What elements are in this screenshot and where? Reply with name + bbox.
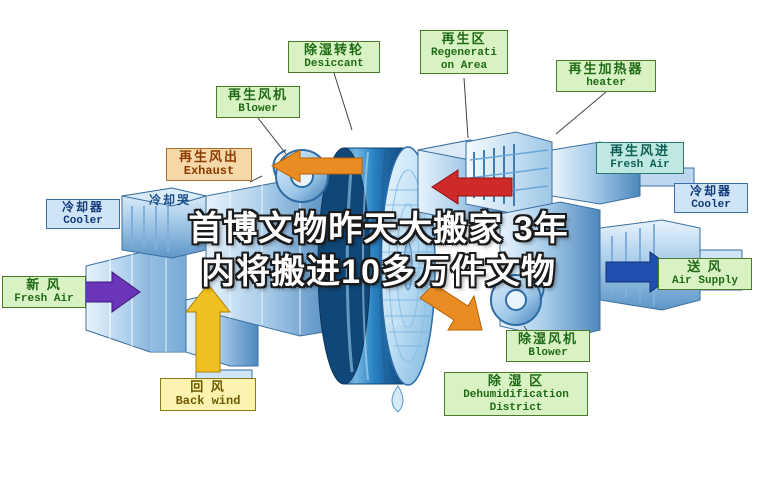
label-regeneration-blower: 再生风机 Blower [216, 86, 300, 118]
label-desiccant-rotor: 除湿转轮 Desiccant [288, 41, 380, 73]
label-air-supply: 送 风 Air Supply [658, 258, 752, 290]
label-cooler-left: 冷却器 Cooler [46, 199, 120, 229]
label-cooling-water: 冷却哭 [140, 193, 200, 209]
label-cooler-right: 冷却器 Cooler [674, 183, 748, 213]
label-fresh-air-inlet: 新 风 Fresh Air [2, 276, 86, 308]
diagram-canvas: 除湿转轮 Desiccant 再生区 Regenerati on Area 再生… [0, 0, 757, 488]
label-regeneration-fresh-air: 再生风进 Fresh Air [596, 142, 684, 174]
regeneration-heater-unit [466, 132, 552, 214]
label-regeneration-area: 再生区 Regenerati on Area [420, 30, 508, 74]
watermark: xyc [386, 316, 406, 328]
label-dehumidification-district: 除 湿 区 Dehumidification District [444, 372, 588, 416]
label-dehumidification-blower: 除湿风机 Blower [506, 330, 590, 362]
label-regeneration-heater: 再生加热器 heater [556, 60, 656, 92]
desiccant-rotor-wheel [318, 147, 435, 412]
label-back-wind: 回 风 Back wind [160, 378, 256, 411]
label-regeneration-exhaust: 再生风出 Exhaust [166, 148, 252, 181]
